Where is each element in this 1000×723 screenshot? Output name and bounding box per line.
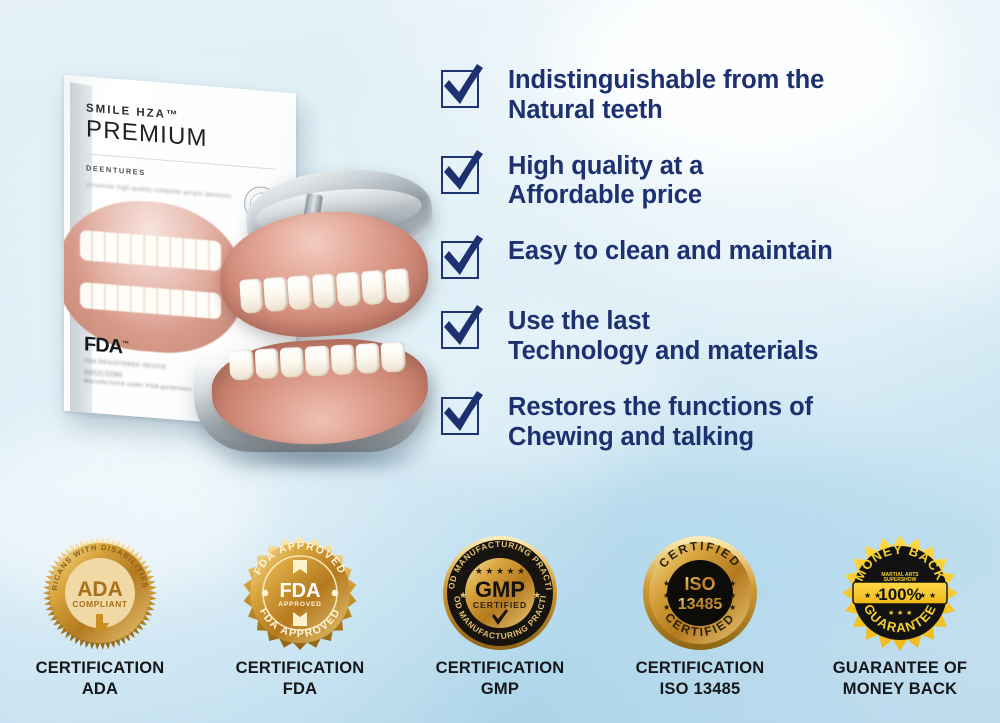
svg-text:★ ★ ★ ★ ★: ★ ★ ★ ★ ★	[475, 566, 525, 576]
ada-seal-icon: AMERICANS WITH DISABILITIES ACTADACOMPLI…	[41, 534, 159, 652]
svg-text:FDA: FDA	[279, 580, 320, 602]
svg-text:GMP: GMP	[475, 577, 525, 602]
svg-text:★: ★	[663, 579, 670, 588]
product-image: SMILE HZA™ PREMIUM DEENTURES Universal h…	[38, 78, 438, 458]
benefits-list: Indistinguishable from theNatural teethH…	[438, 62, 958, 475]
denture-shadow	[216, 446, 426, 472]
certification-caption: CERTIFICATIONFDA	[236, 658, 365, 700]
caption-line-2: GMP	[436, 679, 565, 700]
svg-text:★: ★	[729, 591, 736, 600]
svg-text:13485: 13485	[678, 596, 723, 613]
checkbox-checked-icon	[438, 62, 488, 110]
svg-text:★: ★	[663, 603, 670, 612]
benefit-item-technology: Use the lastTechnology and materials	[438, 303, 958, 367]
svg-text:COMPLIANT: COMPLIANT	[72, 599, 127, 609]
benefit-line: Affordable price	[508, 181, 703, 211]
svg-text:★: ★	[874, 591, 881, 600]
benefit-line: Natural teeth	[508, 96, 824, 126]
benefit-item-function: Restores the functions ofChewing and tal…	[438, 389, 958, 453]
svg-text:★: ★	[906, 609, 912, 617]
svg-text:★: ★	[459, 590, 467, 600]
svg-text:★: ★	[533, 590, 541, 600]
certification-caption: CERTIFICATIONGMP	[436, 658, 565, 700]
svg-text:100%: 100%	[878, 585, 921, 604]
caption-line-2: ADA	[36, 679, 165, 700]
benefit-item-affordable: High quality at aAffordable price	[438, 148, 958, 212]
certification-iso: CERTIFIEDCERTIFIEDISO13485★★★★★★CERTIFIC…	[600, 534, 800, 723]
caption-line-1: CERTIFICATION	[36, 658, 165, 679]
svg-text:ISO: ISO	[684, 574, 715, 594]
svg-text:CERTIFIED: CERTIFIED	[473, 600, 527, 610]
certification-money-back: MONEY BACKGUARANTEE100%★★★★MARTIAL ARTSS…	[800, 534, 1000, 723]
svg-text:★: ★	[729, 579, 736, 588]
fda-seal-icon: FDA APPROVEDFDA APPROVEDFDAAPPROVED	[241, 534, 359, 652]
svg-text:★: ★	[897, 609, 903, 617]
caption-line-2: FDA	[236, 679, 365, 700]
caption-line-1: CERTIFICATION	[636, 658, 765, 679]
package-fda-block: FDA™ FDA REGISTERED DEVICE 9452L0280 Man…	[84, 333, 192, 393]
benefit-text: Use the lastTechnology and materials	[508, 303, 818, 367]
caption-line-1: GUARANTEE OF	[833, 658, 967, 679]
iso-seal-icon: CERTIFIEDCERTIFIEDISO13485★★★★★★	[641, 534, 759, 652]
upper-teeth-row	[239, 268, 412, 314]
certification-caption: GUARANTEE OFMONEY BACK	[833, 658, 967, 700]
caption-line-2: MONEY BACK	[833, 679, 967, 700]
benefit-text: Restores the functions ofChewing and tal…	[508, 389, 813, 453]
benefit-line: Chewing and talking	[508, 423, 813, 453]
certification-caption: CERTIFICATIONISO 13485	[636, 658, 765, 700]
svg-text:ADA: ADA	[77, 578, 123, 601]
svg-text:SUPERSHOW: SUPERSHOW	[884, 577, 917, 583]
benefit-item-easy-clean: Easy to clean and maintain	[438, 233, 958, 281]
certification-gmp: GOOD MANUFACTURING PRACTICEGOOD MANUFACT…	[400, 534, 600, 723]
benefit-line: Restores the functions of	[508, 393, 813, 423]
denture-model	[186, 164, 434, 464]
promo-banner: SMILE HZA™ PREMIUM DEENTURES Universal h…	[0, 0, 1000, 723]
svg-text:★: ★	[888, 609, 894, 617]
svg-text:APPROVED: APPROVED	[278, 601, 321, 608]
benefit-text: Indistinguishable from theNatural teeth	[508, 62, 824, 126]
svg-text:★: ★	[663, 591, 670, 600]
benefit-line: Use the last	[508, 307, 818, 337]
benefit-line: Easy to clean and maintain	[508, 237, 833, 267]
checkbox-checked-icon	[438, 148, 488, 196]
svg-text:★: ★	[729, 603, 736, 612]
gmp-seal-icon: GOOD MANUFACTURING PRACTICEGOOD MANUFACT…	[441, 534, 559, 652]
benefit-item-natural-look: Indistinguishable from theNatural teeth	[438, 62, 958, 126]
caption-line-1: CERTIFICATION	[436, 658, 565, 679]
caption-line-2: ISO 13485	[636, 679, 765, 700]
benefit-line: Technology and materials	[508, 337, 818, 367]
checkbox-checked-icon	[438, 233, 488, 281]
benefit-line: Indistinguishable from the	[508, 66, 824, 96]
caption-line-1: CERTIFICATION	[236, 658, 365, 679]
benefit-text: High quality at aAffordable price	[508, 148, 703, 212]
fda-logo-text: FDA	[84, 333, 122, 358]
svg-text:★: ★	[864, 591, 871, 600]
benefit-text: Easy to clean and maintain	[508, 233, 833, 267]
svg-text:★: ★	[919, 591, 926, 600]
checkbox-checked-icon	[438, 389, 488, 437]
certification-badges-row: AMERICANS WITH DISABILITIES ACTADACOMPLI…	[0, 534, 1000, 723]
benefit-line: High quality at a	[508, 152, 703, 182]
lower-teeth-row	[229, 341, 407, 380]
certification-fda: FDA APPROVEDFDA APPROVEDFDAAPPROVEDCERTI…	[200, 534, 400, 723]
svg-text:★: ★	[929, 591, 936, 600]
checkbox-checked-icon	[438, 303, 488, 351]
certification-ada: AMERICANS WITH DISABILITIES ACTADACOMPLI…	[0, 534, 200, 723]
money-back-seal-icon: MONEY BACKGUARANTEE100%★★★★MARTIAL ARTSS…	[841, 534, 959, 652]
fda-logo-sup: ™	[122, 341, 128, 348]
certification-caption: CERTIFICATIONADA	[36, 658, 165, 700]
